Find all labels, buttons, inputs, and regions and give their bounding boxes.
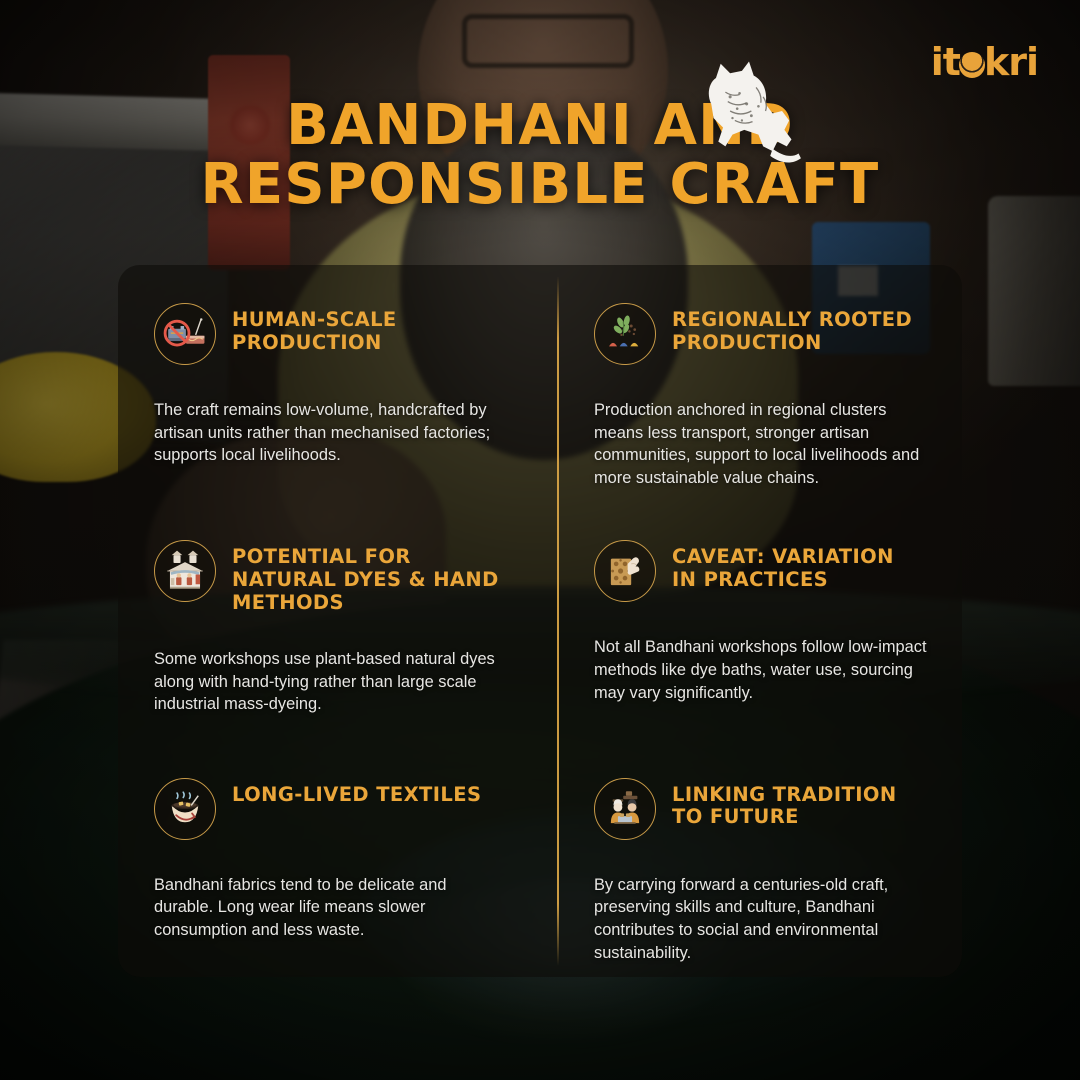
page-title-line-1: BANDHANI AND <box>0 96 1080 155</box>
brand-logo[interactable]: itkri <box>931 40 1038 84</box>
leaves-dye-powders-icon <box>594 303 656 365</box>
feature-block-long-lived-textiles: LONG-LIVED TEXTILES Bandhani fabrics ten… <box>118 740 540 977</box>
feature-block-caveat-variation-in-practices: CAVEAT: VARIATION IN PRACTICES Not all B… <box>540 502 962 739</box>
feature-block-human-scale-production: HUMAN-SCALE PRODUCTION The craft remains… <box>118 265 540 502</box>
brand-logo-text-after: kri <box>984 40 1038 84</box>
feature-body: The craft remains low-volume, handcrafte… <box>154 399 506 467</box>
feature-body: Some workshops use plant-based natural d… <box>154 648 506 716</box>
feature-header: CAVEAT: VARIATION IN PRACTICES <box>594 538 938 602</box>
feature-title: LONG-LIVED TEXTILES <box>232 776 481 807</box>
brand-logo-text-before: it <box>931 40 960 84</box>
feature-block-regionally-rooted-production: REGIONALLY ROOTED PRODUCTION Production … <box>540 265 962 502</box>
feature-title: CAVEAT: VARIATION IN PRACTICES <box>672 538 922 591</box>
feature-header: REGIONALLY ROOTED PRODUCTION <box>594 301 938 365</box>
hand-holding-patterned-fabric-icon <box>594 540 656 602</box>
feature-block-linking-tradition-to-future: LINKING TRADITION TO FUTURE By carrying … <box>540 740 962 977</box>
infographic-canvas: itkri BANDHANI AND RESPONSIBLE CRAFT <box>0 0 1080 1080</box>
two-artisans-working-icon <box>594 778 656 840</box>
feature-title: REGIONALLY ROOTED PRODUCTION <box>672 301 922 354</box>
artisan-workshop-building-icon <box>154 540 216 602</box>
feature-title: POTENTIAL FOR NATURAL DYES & HAND METHOD… <box>232 538 502 614</box>
feature-header: LONG-LIVED TEXTILES <box>154 776 506 840</box>
feature-block-potential-for-natural-dyes: POTENTIAL FOR NATURAL DYES & HAND METHOD… <box>118 502 540 739</box>
feature-grid: HUMAN-SCALE PRODUCTION The craft remains… <box>118 265 962 977</box>
page-title: BANDHANI AND RESPONSIBLE CRAFT <box>0 96 1080 215</box>
brand-logo-basket-icon <box>959 52 985 78</box>
feature-header: HUMAN-SCALE PRODUCTION <box>154 301 506 365</box>
feature-body: By carrying forward a centuries-old craf… <box>594 874 938 965</box>
feature-title: HUMAN-SCALE PRODUCTION <box>232 301 502 354</box>
no-machine-handwork-icon <box>154 303 216 365</box>
steaming-dye-pot-icon <box>154 778 216 840</box>
feature-body: Not all Bandhani workshops follow low-im… <box>594 636 938 704</box>
feature-header: LINKING TRADITION TO FUTURE <box>594 776 938 840</box>
feature-body: Bandhani fabrics tend to be delicate and… <box>154 874 506 942</box>
cat-illustration-icon <box>690 52 808 170</box>
page-title-line-2: RESPONSIBLE CRAFT <box>0 155 1080 214</box>
feature-header: POTENTIAL FOR NATURAL DYES & HAND METHOD… <box>154 538 506 614</box>
feature-body: Production anchored in regional clusters… <box>594 399 938 490</box>
feature-title: LINKING TRADITION TO FUTURE <box>672 776 922 829</box>
